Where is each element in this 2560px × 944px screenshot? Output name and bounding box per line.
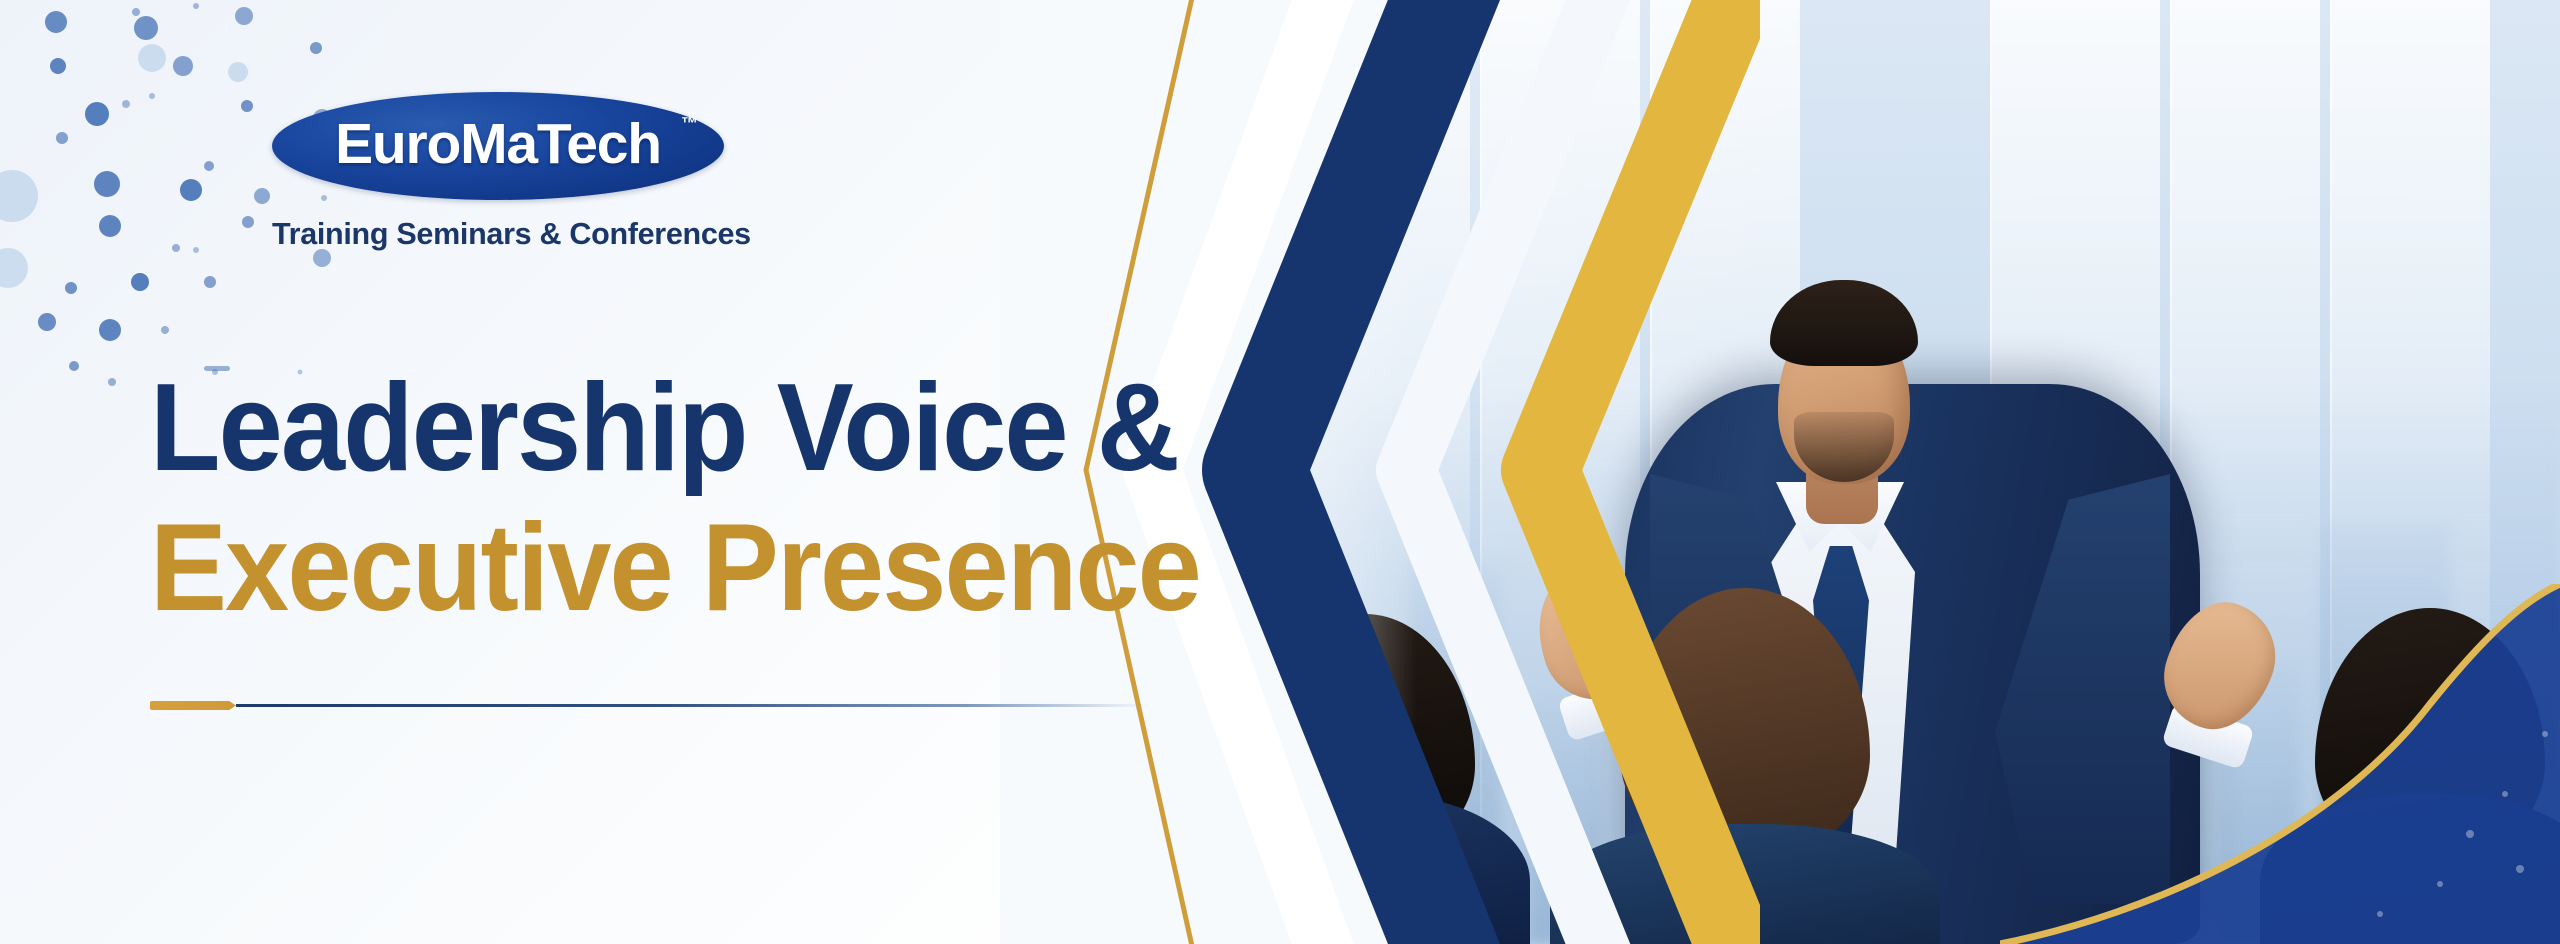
course-banner: EuroMaTech ™ Training Seminars & Confere… <box>0 0 2560 944</box>
divider <box>150 700 1150 710</box>
euromatech-logo[interactable]: EuroMaTech ™ Training Seminars & Confere… <box>272 92 751 252</box>
title-line-2: Executive Presence <box>150 508 1136 630</box>
page-title: Leadership Voice & Executive Presence <box>150 368 1210 629</box>
divider-navy-line <box>236 704 1150 707</box>
title-line-1: Leadership Voice & <box>150 368 1136 490</box>
divider-gold-segment <box>150 701 236 710</box>
logo-tagline: Training Seminars & Conferences <box>272 217 751 252</box>
logo-oval: EuroMaTech ™ <box>272 92 724 200</box>
trademark-icon: ™ <box>681 114 698 134</box>
banner-content: EuroMaTech ™ Training Seminars & Confere… <box>0 0 1300 944</box>
logo-wordmark: EuroMaTech <box>335 111 661 177</box>
